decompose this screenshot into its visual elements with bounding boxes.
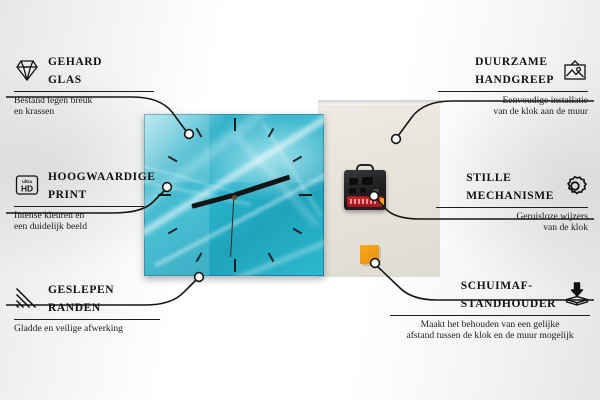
clock-center-pin [232, 195, 237, 200]
feature-divider [390, 315, 590, 316]
feature-description: Geruisloze wijzers van de klok [436, 211, 588, 234]
ultra-hd-icon: ultra HD [14, 172, 40, 198]
feature-header: ultra HD HOOGWAARDIGE PRINT [14, 167, 144, 203]
feature-header: GEHARD GLAS [14, 52, 154, 88]
picture-frame-icon [562, 57, 588, 83]
feature-divider [436, 207, 588, 208]
product-photo [140, 100, 440, 280]
clock-movement [344, 170, 386, 210]
svg-text:HD: HD [21, 183, 33, 193]
feature-divider [14, 319, 160, 320]
feature-description: Eenvoudige installatie van de klok aan d… [438, 95, 588, 118]
infographic-canvas: GEHARD GLAS Bestand tegen breuk en krass… [0, 0, 600, 400]
gear-icon [562, 173, 588, 199]
diagonal-edges-icon [14, 285, 40, 311]
press-down-icon [564, 281, 590, 307]
feature-description: Gladde en veilige afwerking [14, 323, 160, 334]
battery [347, 196, 383, 207]
clock-tick [158, 194, 171, 196]
feature-title: HOOGWAARDIGE PRINT [48, 167, 156, 203]
feature-description: Bestand tegen breuk en krassen [14, 95, 154, 118]
feature-title: STILLE MECHANISME [466, 168, 554, 204]
feature-title: DUURZAME HANDGREEP [475, 52, 554, 88]
feature-header: GESLEPEN RANDEN [14, 280, 160, 316]
feature-hoogwaardige-print: ultra HD HOOGWAARDIGE PRINT Intense kleu… [14, 167, 144, 233]
foam-spacer [360, 245, 379, 264]
clock-tick [299, 194, 312, 196]
feature-header: DUURZAME HANDGREEP [438, 52, 588, 88]
feature-gehard-glas: GEHARD GLAS Bestand tegen breuk en krass… [14, 52, 154, 118]
feature-header: STILLE MECHANISME [436, 168, 588, 204]
glass-wall-clock [144, 114, 324, 276]
feature-title: SCHUIMAF- STANDHOUDER [461, 276, 556, 312]
feature-header: SCHUIMAF- STANDHOUDER [390, 276, 590, 312]
diamond-icon [14, 57, 40, 83]
feature-description: Maakt het behouden van een gelijke afsta… [390, 319, 590, 342]
feature-divider [14, 91, 154, 92]
movement-body [344, 170, 386, 210]
feature-duurzame-handgreep: DUURZAME HANDGREEP Eenvoudige installati… [438, 52, 588, 118]
feature-geslepen-randen: GESLEPEN RANDEN Gladde en veilige afwerk… [14, 280, 160, 334]
clock-tick [234, 259, 236, 272]
feature-schuimafstandhouder: SCHUIMAF- STANDHOUDER Maakt het behouden… [390, 276, 590, 342]
feature-divider [14, 206, 144, 207]
clock-tick [234, 118, 236, 131]
feature-title: GESLEPEN RANDEN [48, 280, 114, 316]
feature-divider [438, 91, 588, 92]
feature-description: Intense kleuren en een duidelijk beeld [14, 210, 144, 233]
feature-title: GEHARD GLAS [48, 52, 102, 88]
feature-stille-mechanisme: STILLE MECHANISME Geruisloze wijzers van… [436, 168, 588, 234]
